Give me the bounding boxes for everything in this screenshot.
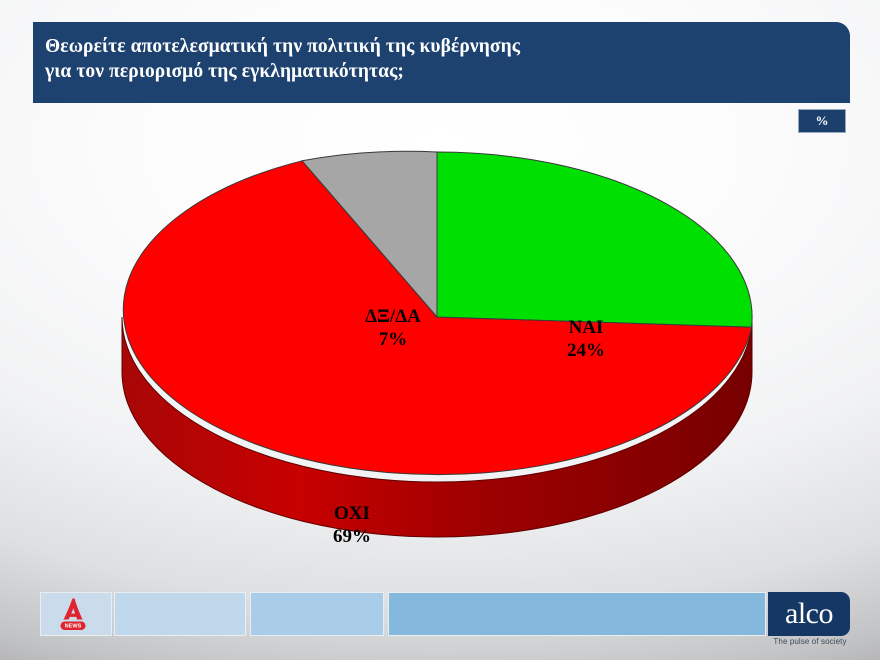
slide-canvas: Θεωρείτε αποτελεσματική την πολιτική της… <box>0 0 880 660</box>
alpha-news-badge-text: NEWS <box>65 624 82 630</box>
footer-segment-2 <box>114 592 246 636</box>
footer-segment-4 <box>388 592 766 636</box>
alco-logo: alco <box>768 592 850 636</box>
alco-tagline: The pulse of society <box>764 637 856 646</box>
pie-chart: ΝΑΙ24% ΟΧΙ69% ΔΞ/ΔΑ7% <box>0 130 880 580</box>
footer-bar: NEWS alco The pulse of society <box>0 592 880 640</box>
pie-top-face <box>123 151 752 474</box>
pie-chart-svg <box>0 130 880 580</box>
pie-slice-nai[interactable] <box>437 152 752 327</box>
footer-segment-3 <box>250 592 384 636</box>
alpha-news-logo-icon: NEWS <box>52 595 94 633</box>
alco-wordmark: alco <box>785 599 833 629</box>
page-title: Θεωρείτε αποτελεσματική την πολιτική της… <box>45 34 850 84</box>
title-bar: Θεωρείτε αποτελεσματική την πολιτική της… <box>33 22 850 103</box>
